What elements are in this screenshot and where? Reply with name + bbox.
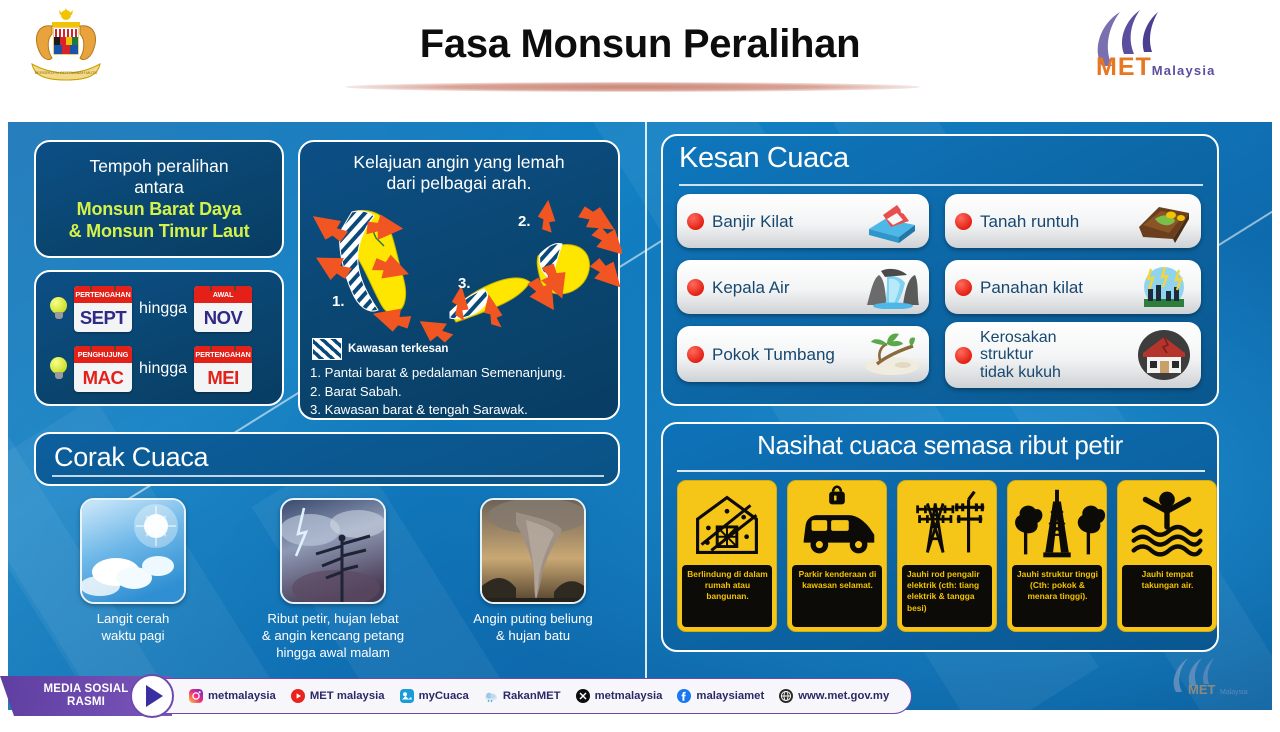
- tornado-photo: [480, 498, 586, 604]
- calendar-month: MEI: [194, 363, 252, 392]
- tip-text: Parkir kenderaan di kawasan selamat.: [792, 565, 882, 627]
- tip-card-parked-car: Parkir kenderaan di kawasan selamat.: [787, 480, 887, 632]
- social-item-facebook[interactable]: malaysiamet: [677, 689, 764, 703]
- bullet-dot-icon: [955, 213, 972, 230]
- damaged-house-icon: [1135, 327, 1193, 383]
- play-triangle-icon[interactable]: [146, 685, 163, 707]
- map-marker-3: 3.: [458, 275, 471, 292]
- bullet-dot-icon: [955, 279, 972, 296]
- nasihat-title: Nasihat cuaca semasa ribut petir: [663, 430, 1217, 461]
- tall-tower-icon: [1008, 485, 1106, 563]
- rakanmet-icon[interactable]: [484, 689, 498, 703]
- lightbulb-icon: [50, 357, 67, 381]
- social-links-list: metmalaysia MET malaysia myCuaca: [152, 678, 912, 714]
- tip-text: Berlindung di dalam rumah atau bangunan.: [682, 565, 772, 627]
- bullet-dot-icon: [687, 346, 704, 363]
- page-header: BERSEKUTU BERTAMBAH MUTU Fasa Monsun Per…: [0, 0, 1280, 112]
- title-underline-decoration: [345, 82, 920, 92]
- calendar-icon-to: PERTENGAHAN MEI: [194, 346, 252, 392]
- tempoh-monsoon-2: & Monsun Timur Laut: [44, 220, 274, 242]
- badge-line-1: MEDIA SOSIAL: [43, 683, 128, 695]
- kesan-label: Panahan kilat: [980, 278, 1135, 297]
- wind-map-card: Kelajuan angin yang lemah dari pelbagai …: [298, 140, 620, 420]
- social-item-website[interactable]: www.met.gov.my: [779, 689, 889, 703]
- x-twitter-icon[interactable]: [576, 689, 590, 703]
- tip-card-power-lines: Jauhi rod pengalir elektrik (cth: tiang …: [897, 480, 997, 632]
- tip-text: Jauhi tempat takungan air.: [1122, 565, 1212, 627]
- kesan-label: Kepala Air: [712, 278, 863, 297]
- infographic-body: Tempoh peralihan antara Monsun Barat Day…: [8, 122, 1272, 710]
- fallen-tree-icon: [863, 332, 921, 376]
- social-item-mycuaca[interactable]: myCuaca: [400, 689, 469, 703]
- social-label[interactable]: MET malaysia: [310, 690, 385, 702]
- map-region-list: 1. Pantai barat & pedalaman Semenanjung.…: [310, 364, 615, 420]
- calendar-icon-to: AWAL NOV: [194, 286, 252, 332]
- social-item-instagram[interactable]: metmalaysia: [189, 689, 276, 703]
- hatch-swatch-icon: [312, 338, 342, 360]
- parked-car-icon: [788, 485, 886, 563]
- nasihat-cuaca-card: Nasihat cuaca semasa ribut petir Berlind…: [661, 422, 1219, 652]
- calendar-period-card: PERTENGAHAN SEPT hingga AWAL NOV PENGHUJ…: [34, 270, 284, 406]
- tip-text: Jauhi rod pengalir elektrik (cth: tiang …: [902, 565, 992, 627]
- youtube-icon[interactable]: [291, 689, 305, 703]
- map-title: Kelajuan angin yang lemah dari pelbagai …: [300, 152, 618, 194]
- page-title: Fasa Monsun Peralihan: [300, 22, 980, 67]
- photo-caption: Angin puting beliung& hujan batu: [438, 610, 628, 644]
- social-label[interactable]: metmalaysia: [595, 690, 663, 702]
- social-label[interactable]: metmalaysia: [208, 690, 276, 702]
- kesan-label: Pokok Tumbang: [712, 345, 863, 364]
- weather-photo-item: Angin puting beliung& hujan batu: [438, 498, 628, 644]
- list-item: 1. Pantai barat & pedalaman Semenanjung.: [310, 364, 615, 383]
- calendar-month: MAC: [74, 363, 132, 392]
- jata-negara-crest-icon: BERSEKUTU BERTAMBAH MUTU: [14, 6, 118, 94]
- social-item-rakanmet[interactable]: RakanMET: [484, 689, 561, 703]
- kesan-item-kerosakan-struktur: Kerosakanstrukturtidak kukuh: [945, 322, 1201, 388]
- photo-caption: Langit cerahwaktu pagi: [38, 610, 228, 644]
- globe-icon[interactable]: [779, 689, 793, 703]
- calendar-row: PENGHUJUNG MAC hingga PERTENGAHAN MEI: [50, 346, 252, 392]
- header-rule: [679, 184, 1203, 186]
- social-label[interactable]: RakanMET: [503, 690, 561, 702]
- tip-card-tall-structure: Jauhi struktur tinggi (Cth: pokok & mena…: [1007, 480, 1107, 632]
- social-item-youtube[interactable]: MET malaysia: [291, 689, 385, 703]
- calendar-month: NOV: [194, 303, 252, 332]
- list-item: 2. Barat Sabah.: [310, 383, 615, 402]
- weather-photo-item: Ribut petir, hujan lebat& angin kencang …: [238, 498, 428, 661]
- flood-water-icon: [1118, 485, 1216, 563]
- header-rule: [52, 475, 604, 477]
- infographic-page: BERSEKUTU BERTAMBAH MUTU Fasa Monsun Per…: [0, 0, 1280, 732]
- svg-text:MET: MET: [1188, 682, 1216, 696]
- calendar-month: SEPT: [74, 303, 132, 332]
- kesan-item-kepala-air: Kepala Air: [677, 260, 929, 314]
- corak-cuaca-title: Corak Cuaca: [54, 442, 208, 473]
- svg-text:Malaysia: Malaysia: [1220, 689, 1248, 696]
- kesan-cuaca-title: Kesan Cuaca: [679, 142, 849, 175]
- kesan-item-tanah-runtuh: Tanah runtuh: [945, 194, 1201, 248]
- clear-sky-photo: [80, 498, 186, 604]
- map-legend: Kawasan terkesan: [312, 338, 448, 360]
- facebook-icon[interactable]: [677, 689, 691, 703]
- calendar-icon-from: PENGHUJUNG MAC: [74, 346, 132, 392]
- mycuaca-app-icon[interactable]: [400, 689, 414, 703]
- instagram-icon[interactable]: [189, 689, 203, 703]
- header-rule: [677, 470, 1205, 472]
- map-legend-label: Kawasan terkesan: [348, 343, 448, 355]
- corak-cuaca-header: Corak Cuaca: [34, 432, 620, 486]
- met-malaysia-logo: METMalaysia: [1082, 8, 1222, 88]
- connector-label: hingga: [139, 360, 187, 378]
- malaysia-wind-map: 1. 2. 3.: [300, 194, 622, 344]
- tip-card-shelter: Berlindung di dalam rumah atau bangunan.: [677, 480, 777, 632]
- svg-text:BERSEKUTU BERTAMBAH MUTU: BERSEKUTU BERTAMBAH MUTU: [35, 70, 98, 75]
- tip-text: Jauhi struktur tinggi (Cth: pokok & mena…: [1012, 565, 1102, 627]
- map-marker-1: 1.: [332, 293, 345, 310]
- tempoh-monsoon-1: Monsun Barat Daya: [44, 198, 274, 220]
- tempoh-line-2: antara: [44, 177, 274, 198]
- landslide-icon: [1135, 199, 1193, 243]
- social-label[interactable]: myCuaca: [419, 690, 469, 702]
- kesan-cuaca-card: Kesan Cuaca Banjir Kilat: [661, 134, 1219, 406]
- left-panel: Tempoh peralihan antara Monsun Barat Day…: [8, 122, 645, 710]
- weather-photo-item: Langit cerahwaktu pagi: [38, 498, 228, 644]
- kesan-label: Tanah runtuh: [980, 212, 1135, 231]
- waterfall-icon: [863, 265, 921, 309]
- social-label[interactable]: www.met.gov.my: [798, 690, 889, 702]
- social-label[interactable]: malaysiamet: [696, 690, 764, 702]
- power-pylon-icon: [898, 485, 996, 563]
- shelter-house-icon: [678, 485, 776, 563]
- kesan-item-pokok-tumbang: Pokok Tumbang: [677, 326, 929, 382]
- kesan-item-banjir-kilat: Banjir Kilat: [677, 194, 929, 248]
- lightning-strike-icon: [1135, 265, 1193, 309]
- list-item: 3. Kawasan barat & tengah Sarawak.: [310, 401, 615, 420]
- bullet-dot-icon: [687, 213, 704, 230]
- bullet-dot-icon: [955, 347, 972, 364]
- lightbulb-icon: [50, 297, 67, 321]
- met-watermark-logo: MET Malaysia: [1162, 656, 1258, 696]
- kesan-label: Banjir Kilat: [712, 212, 863, 231]
- map-marker-2: 2.: [518, 213, 531, 230]
- flood-icon: [863, 199, 921, 243]
- play-button[interactable]: [130, 674, 174, 718]
- tempoh-peralihan-card: Tempoh peralihan antara Monsun Barat Day…: [34, 140, 284, 258]
- met-logo-text: METMalaysia: [1096, 53, 1216, 82]
- calendar-icon-from: PERTENGAHAN SEPT: [74, 286, 132, 332]
- right-panel: Kesan Cuaca Banjir Kilat: [647, 122, 1272, 710]
- bullet-dot-icon: [687, 279, 704, 296]
- kesan-item-panahan-kilat: Panahan kilat: [945, 260, 1201, 314]
- thunderstorm-photo: [280, 498, 386, 604]
- social-item-x-twitter[interactable]: metmalaysia: [576, 689, 663, 703]
- kesan-label: Kerosakanstrukturtidak kukuh: [980, 329, 1135, 382]
- corak-cuaca-photos: Langit cerahwaktu pagi: [38, 498, 638, 658]
- calendar-row: PERTENGAHAN SEPT hingga AWAL NOV: [50, 286, 252, 332]
- tempoh-line-1: Tempoh peralihan: [44, 156, 274, 177]
- social-media-bar: MEDIA SOSIALRASMI metmalaysia MET malays…: [0, 676, 912, 716]
- photo-caption: Ribut petir, hujan lebat& angin kencang …: [238, 610, 428, 661]
- tip-card-flood-water: Jauhi tempat takungan air.: [1117, 480, 1217, 632]
- badge-line-2: RASMI: [67, 696, 105, 708]
- connector-label: hingga: [139, 300, 187, 318]
